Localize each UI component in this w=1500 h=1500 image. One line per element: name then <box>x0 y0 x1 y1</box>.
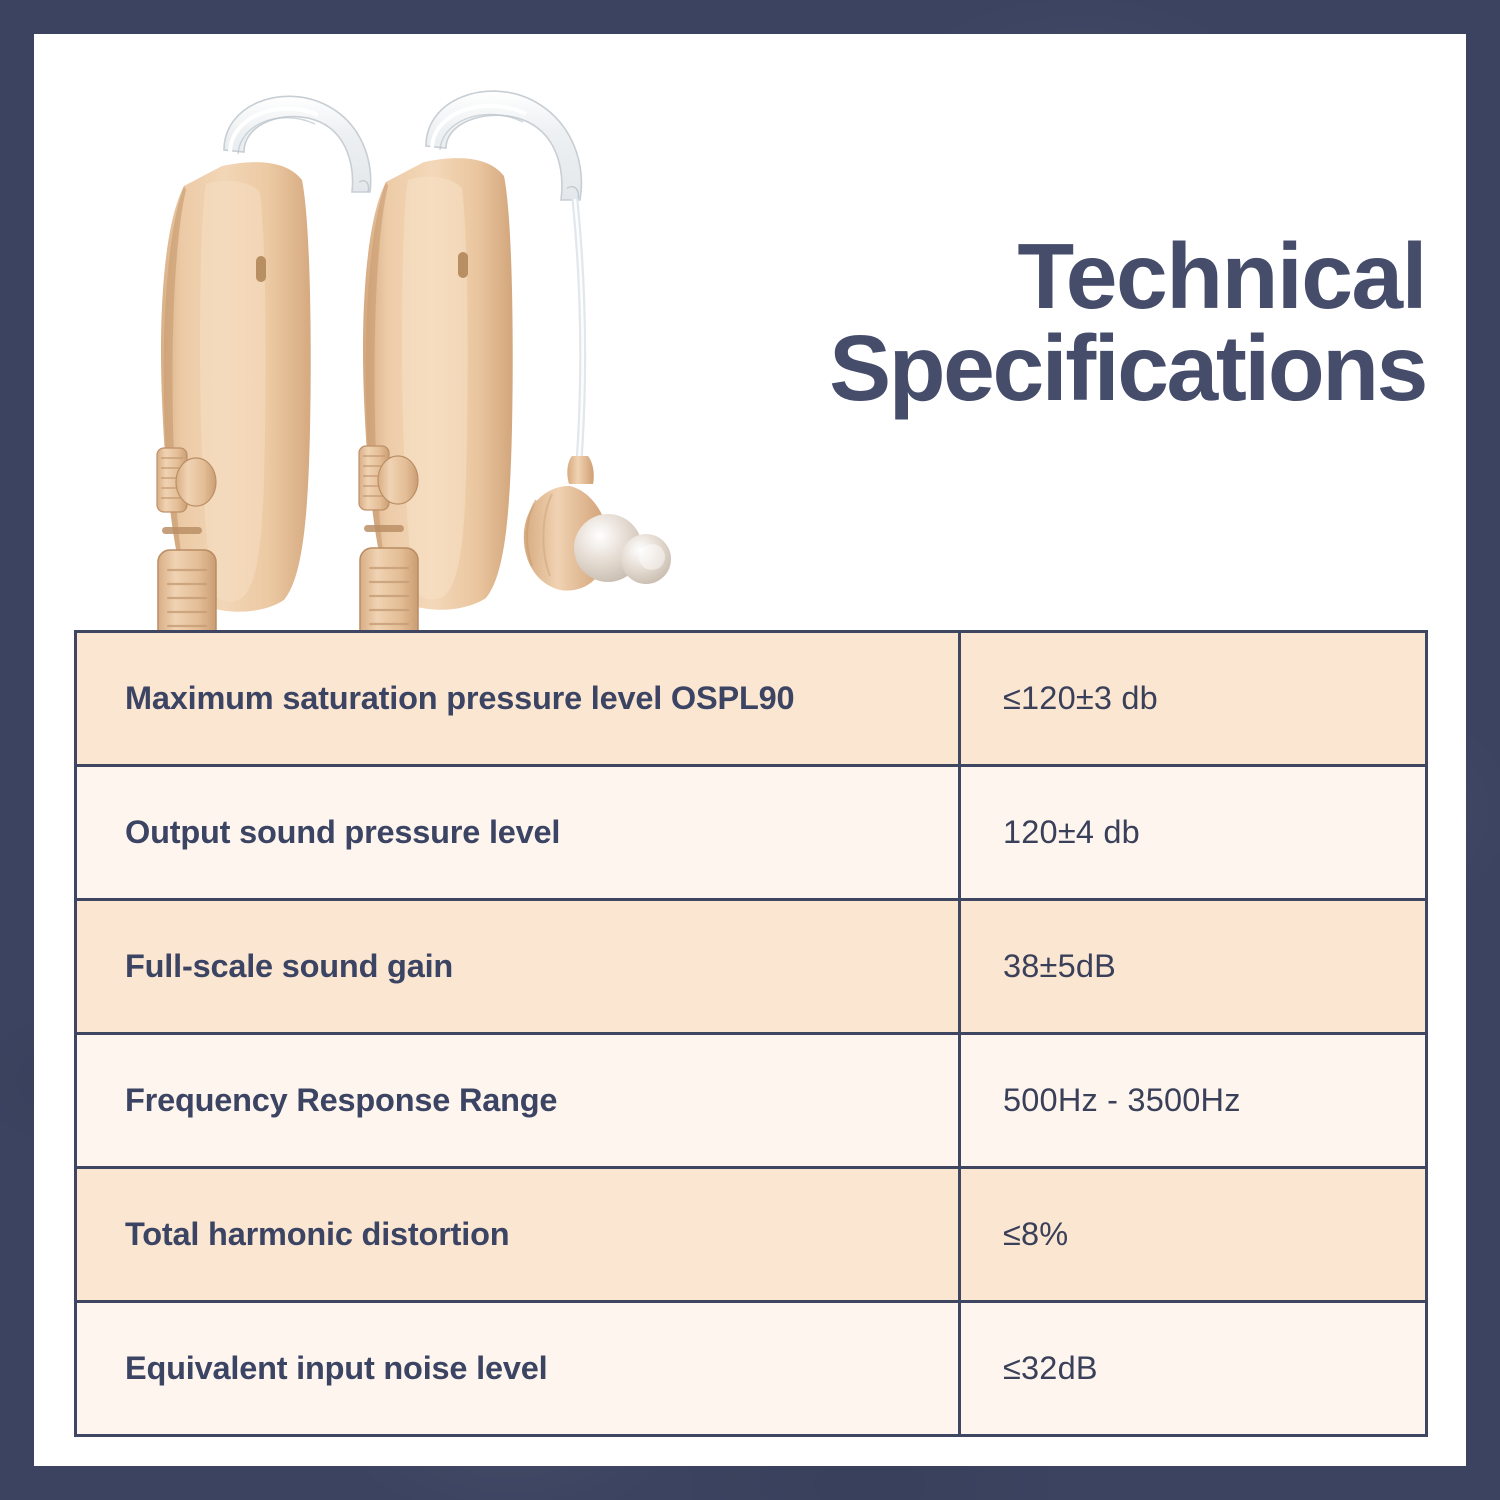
poster-frame: Technical Specifications Maximum saturat… <box>0 0 1500 1500</box>
ear-dome-earpiece <box>524 456 671 591</box>
spec-label: Equivalent input noise level <box>76 1302 960 1436</box>
spec-label: Output sound pressure level <box>76 766 960 900</box>
page-title: Technical Specifications <box>626 230 1426 414</box>
page-title-line-2: Specifications <box>626 322 1426 414</box>
table-row: Output sound pressure level 120±4 db <box>76 766 1427 900</box>
battery-door-right <box>360 548 418 630</box>
battery-door-left <box>158 550 216 630</box>
spec-label: Total harmonic distortion <box>76 1168 960 1302</box>
page-title-line-1: Technical <box>626 230 1426 322</box>
specifications-table: Maximum saturation pressure level OSPL90… <box>74 630 1428 1437</box>
spec-value: ≤32dB <box>960 1302 1427 1436</box>
product-photo <box>74 70 674 630</box>
spec-value: 500Hz - 3500Hz <box>960 1034 1427 1168</box>
table-row: Maximum saturation pressure level OSPL90… <box>76 632 1427 766</box>
specifications-table-body: Maximum saturation pressure level OSPL90… <box>76 632 1427 1436</box>
spec-value: 120±4 db <box>960 766 1427 900</box>
spec-value: 38±5dB <box>960 900 1427 1034</box>
table-row: Equivalent input noise level ≤32dB <box>76 1302 1427 1436</box>
hearing-aid-left <box>157 96 371 630</box>
spec-value: ≤120±3 db <box>960 632 1427 766</box>
spec-label: Full-scale sound gain <box>76 900 960 1034</box>
spec-label: Frequency Response Range <box>76 1034 960 1168</box>
content-card: Technical Specifications Maximum saturat… <box>34 34 1466 1466</box>
spec-label: Maximum saturation pressure level OSPL90 <box>76 632 960 766</box>
spec-value: ≤8% <box>960 1168 1427 1302</box>
table-row: Frequency Response Range 500Hz - 3500Hz <box>76 1034 1427 1168</box>
table-row: Total harmonic distortion ≤8% <box>76 1168 1427 1302</box>
table-row: Full-scale sound gain 38±5dB <box>76 900 1427 1034</box>
